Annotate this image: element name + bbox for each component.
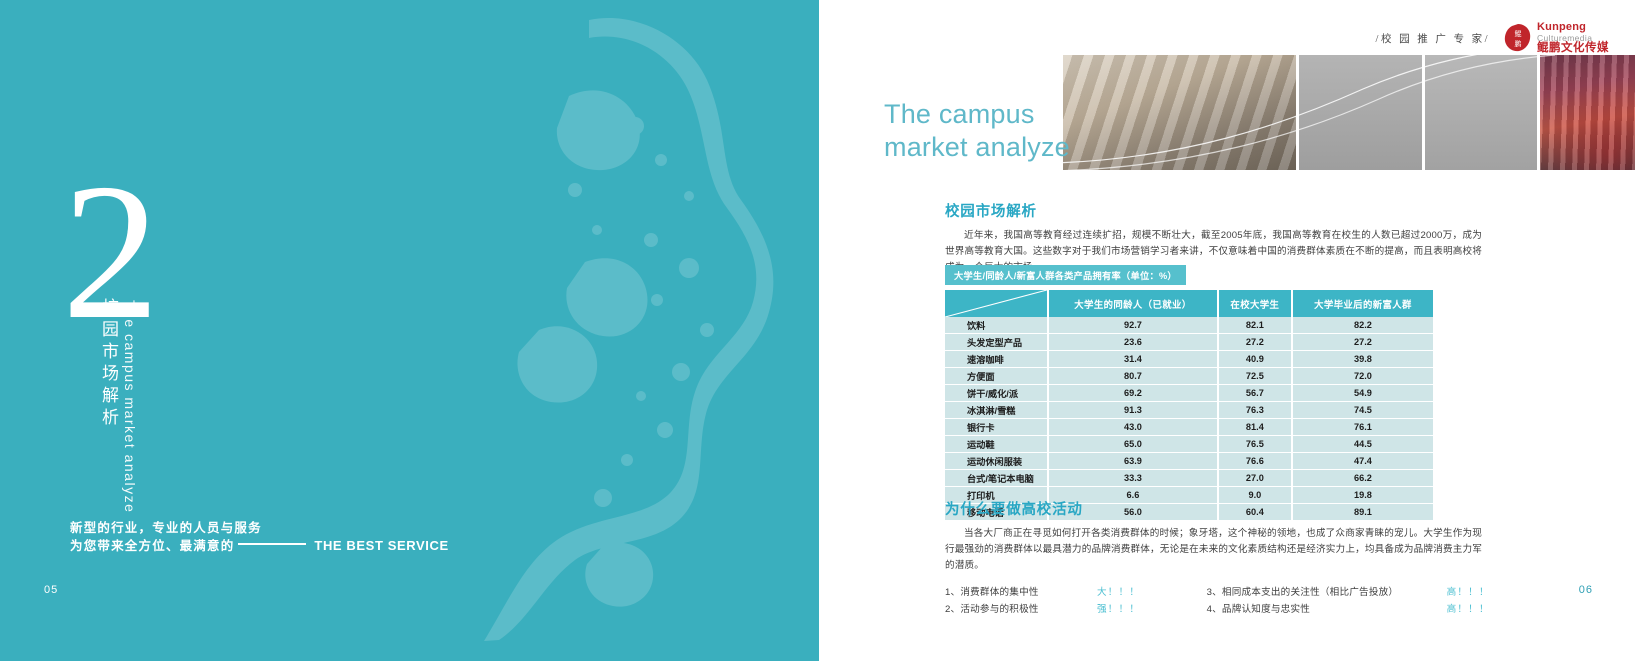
table-cell: 65.0 <box>1048 436 1218 453</box>
table-row: 饼干/威化/派69.256.754.9 <box>945 385 1433 402</box>
table-row-label: 冰淇淋/雪糕 <box>945 402 1048 419</box>
logo-en-line1: Kunpeng <box>1537 22 1609 34</box>
left-page: 2 校园市场解析 The campus market analyze 新型的行业… <box>0 0 819 661</box>
key-points-column-left: 1、消费群体的集中性 大！！！ 2、活动参与的积极性 强！！！ <box>945 584 1207 618</box>
table-cell: 47.4 <box>1292 453 1433 470</box>
table-cell: 69.2 <box>1048 385 1218 402</box>
brand-tagline: /校 园 推 广 专 家/ <box>1376 31 1490 46</box>
chapter-title-cn: 校园市场解析 <box>96 298 121 430</box>
left-slogan: 新型的行业，专业的人员与服务 为您带来全方位、最满意的 THE BEST SER… <box>70 519 449 555</box>
table-cell: 81.4 <box>1218 419 1292 436</box>
table-row-label: 头发定型产品 <box>945 334 1048 351</box>
table-row-label: 银行卡 <box>945 419 1048 436</box>
table-corner-cell <box>945 290 1048 317</box>
hero-title: The campus market analyze <box>884 98 1070 164</box>
photo-books <box>1063 55 1296 170</box>
table-cell: 80.7 <box>1048 368 1218 385</box>
table-cell: 63.9 <box>1048 453 1218 470</box>
point-3-value: 高！！！ <box>1447 584 1490 598</box>
point-1-value: 大！！！ <box>1097 584 1140 598</box>
table-cell: 27.2 <box>1292 334 1433 351</box>
table-cell: 92.7 <box>1048 317 1218 334</box>
table-row: 速溶咖啡31.440.939.8 <box>945 351 1433 368</box>
table-cell: 74.5 <box>1292 402 1433 419</box>
point-2-value: 强！！！ <box>1097 601 1140 615</box>
list-item: 1、消费群体的集中性 大！！！ <box>945 584 1207 597</box>
brochure-spread: 2 校园市场解析 The campus market analyze 新型的行业… <box>0 0 1635 661</box>
page-number-right: 06 <box>1579 584 1593 596</box>
table-cell: 33.3 <box>1048 470 1218 487</box>
logo-cn: 鲲鹏文化传媒 <box>1537 42 1609 54</box>
photo-grey-2 <box>1425 55 1536 170</box>
list-item: 3、相同成本支出的关注性（相比广告投放） 高！！！ <box>1207 584 1493 597</box>
hero-title-line1: The campus <box>884 98 1070 131</box>
table-cell: 76.6 <box>1218 453 1292 470</box>
table-body: 饮料92.782.182.2头发定型产品23.627.227.2速溶咖啡31.4… <box>945 317 1433 521</box>
slogan-line-1: 新型的行业，专业的人员与服务 <box>70 519 449 537</box>
table-row-label: 速溶咖啡 <box>945 351 1048 368</box>
ownership-table-block: 大学生/同龄人/新富人群各类产品拥有率（单位：%） 大学生的同龄人（已就业） 在… <box>945 265 1433 521</box>
point-1-label: 1、消费群体的集中性 <box>945 584 1097 598</box>
table-cell: 76.1 <box>1292 419 1433 436</box>
right-page: /校 园 推 广 专 家/ 鲲 鹏 Kunpeng Culturemedia 鲲… <box>819 0 1635 661</box>
table-row-label: 方便面 <box>945 368 1048 385</box>
point-2-label: 2、活动参与的积极性 <box>945 601 1097 615</box>
table-cell: 56.7 <box>1218 385 1292 402</box>
ownership-rate-table: 大学生的同龄人（已就业） 在校大学生 大学毕业后的新富人群 饮料92.782.1… <box>945 290 1433 521</box>
best-service-text: THE BEST SERVICE <box>314 537 448 555</box>
table-cell: 66.2 <box>1292 470 1433 487</box>
table-row: 头发定型产品23.627.227.2 <box>945 334 1433 351</box>
seal-icon: 鲲 鹏 <box>1504 23 1532 53</box>
table-caption: 大学生/同龄人/新富人群各类产品拥有率（单位：%） <box>945 265 1186 285</box>
table-row-label: 运动休闲服装 <box>945 453 1048 470</box>
table-cell: 82.1 <box>1218 317 1292 334</box>
brand-bar: /校 园 推 广 专 家/ 鲲 鹏 Kunpeng Culturemedia 鲲… <box>1376 22 1609 55</box>
chapter-title-en: The campus market analyze <box>122 300 138 513</box>
list-item: 2、活动参与的积极性 强！！！ <box>945 601 1207 614</box>
table-cell: 72.5 <box>1218 368 1292 385</box>
decorative-map-shape <box>389 0 809 661</box>
table-col-peers: 大学生的同龄人（已就业） <box>1048 290 1218 317</box>
table-cell: 76.3 <box>1218 402 1292 419</box>
slogan-line-2: 为您带来全方位、最满意的 <box>70 537 234 555</box>
photo-strip <box>1063 55 1635 170</box>
hero-title-line2: market analyze <box>884 131 1070 164</box>
point-4-label: 4、品牌认知度与忠实性 <box>1207 601 1447 615</box>
table-col-newrich: 大学毕业后的新富人群 <box>1292 290 1433 317</box>
key-points-column-right: 3、相同成本支出的关注性（相比广告投放） 高！！！ 4、品牌认知度与忠实性 高！… <box>1207 584 1493 618</box>
table-row: 饮料92.782.182.2 <box>945 317 1433 334</box>
table-cell: 39.8 <box>1292 351 1433 368</box>
table-cell: 31.4 <box>1048 351 1218 368</box>
table-header-row: 大学生的同龄人（已就业） 在校大学生 大学毕业后的新富人群 <box>945 290 1433 317</box>
table-cell: 91.3 <box>1048 402 1218 419</box>
table-row: 方便面80.772.572.0 <box>945 368 1433 385</box>
section2-paragraph: 当各大厂商正在寻觅如何打开各类消费群体的时候；象牙塔，这个神秘的领地，也成了众商… <box>945 526 1482 574</box>
key-points-list: 1、消费群体的集中性 大！！！ 2、活动参与的积极性 强！！！ 3、相同成本支出… <box>945 584 1493 618</box>
table-row: 运动鞋65.076.544.5 <box>945 436 1433 453</box>
company-logo: 鲲 鹏 Kunpeng Culturemedia 鲲鹏文化传媒 <box>1504 22 1609 55</box>
table-row: 冰淇淋/雪糕91.376.374.5 <box>945 402 1433 419</box>
table-row: 银行卡43.081.476.1 <box>945 419 1433 436</box>
photo-event <box>1540 55 1635 170</box>
section-why-campus: 为什么要做高校活动 当各大厂商正在寻觅如何打开各类消费群体的时候；象牙塔，这个神… <box>945 498 1493 618</box>
table-row: 运动休闲服装63.976.647.4 <box>945 453 1433 470</box>
table-row-label: 台式/笔记本电脑 <box>945 470 1048 487</box>
table-cell: 27.0 <box>1218 470 1292 487</box>
diagonal-divider-icon <box>945 290 1047 317</box>
svg-text:鲲: 鲲 <box>1515 29 1522 38</box>
section2-heading: 为什么要做高校活动 <box>945 498 1493 519</box>
page-number-left: 05 <box>44 584 58 596</box>
photo-grey-1 <box>1299 55 1422 170</box>
table-cell: 27.2 <box>1218 334 1292 351</box>
table-cell: 44.5 <box>1292 436 1433 453</box>
table-row: 台式/笔记本电脑33.327.066.2 <box>945 470 1433 487</box>
table-cell: 54.9 <box>1292 385 1433 402</box>
table-col-students: 在校大学生 <box>1218 290 1292 317</box>
table-cell: 76.5 <box>1218 436 1292 453</box>
table-cell: 72.0 <box>1292 368 1433 385</box>
list-item: 4、品牌认知度与忠实性 高！！！ <box>1207 601 1493 614</box>
table-cell: 23.6 <box>1048 334 1218 351</box>
section1-heading: 校园市场解析 <box>945 200 1482 221</box>
slogan-divider <box>238 543 306 545</box>
table-row-label: 饼干/威化/派 <box>945 385 1048 402</box>
point-4-value: 高！！！ <box>1447 601 1490 615</box>
svg-text:鹏: 鹏 <box>1515 39 1522 48</box>
point-3-label: 3、相同成本支出的关注性（相比广告投放） <box>1207 584 1447 598</box>
table-cell: 40.9 <box>1218 351 1292 368</box>
table-cell: 43.0 <box>1048 419 1218 436</box>
table-cell: 82.2 <box>1292 317 1433 334</box>
table-row-label: 饮料 <box>945 317 1048 334</box>
table-row-label: 运动鞋 <box>945 436 1048 453</box>
